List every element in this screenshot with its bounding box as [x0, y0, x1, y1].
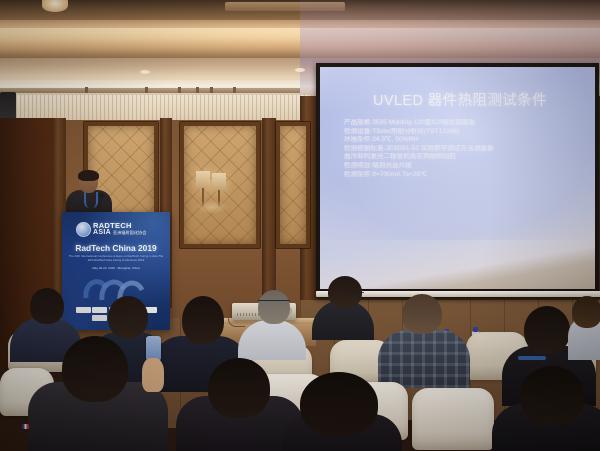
- logo-brand-asia: ASIA: [93, 229, 111, 236]
- sunglasses-icon: [258, 300, 290, 305]
- sponsor-logo: [92, 315, 107, 321]
- lighting-track: [0, 88, 300, 93]
- chair: [412, 388, 494, 450]
- slide-title: UVLED 器件热阻测试条件: [340, 89, 580, 110]
- sconce-shade-left-icon: [196, 171, 210, 189]
- track-fixture-icon: [196, 87, 199, 93]
- slide-line: 产品规格:3535 Molding 120度ICP氮化铝基板: [344, 119, 574, 128]
- track-fixture-icon: [233, 87, 236, 93]
- logo-brand-line2: ASIA 亚洲辐射固化协会: [93, 229, 146, 236]
- audience-head: [182, 296, 224, 344]
- slide-line: 检测条件:If=700mA Ta=25℃: [344, 171, 574, 180]
- wall-panel-frame: [276, 122, 310, 248]
- wood-column: [262, 118, 276, 308]
- track-fixture-icon: [145, 87, 148, 93]
- sconce-shade-right-icon: [212, 173, 226, 191]
- speaker-lanyard: [84, 192, 98, 208]
- ceiling-downlight-icon: [42, 0, 68, 12]
- audience-head-front: [62, 336, 128, 402]
- audience-head: [258, 290, 290, 324]
- sconce-base: [196, 200, 228, 214]
- audience-head: [30, 288, 64, 324]
- track-fixture-icon: [85, 87, 88, 93]
- slide-line: 环境条件:24.3℃, 50%RH: [344, 136, 574, 145]
- projection-screen: UVLED 器件热阻测试条件 产品规格:3535 Molding 120度ICP…: [320, 67, 595, 289]
- slide-line: 检测项目:结到壳直片阻: [344, 162, 574, 171]
- audience-head-front: [300, 372, 378, 436]
- speaker-hair: [78, 170, 99, 181]
- audience-head-front: [520, 366, 584, 424]
- glasses-icon: [348, 292, 364, 297]
- lanyard: [518, 356, 546, 360]
- audience-torso-plaid: [378, 330, 470, 388]
- event-date: May 20-22, 2019 · Shanghai, China: [68, 266, 164, 270]
- hand: [142, 358, 164, 392]
- audience-head: [524, 306, 570, 354]
- conference-room-photo: UVLED 器件热阻测试条件 产品规格:3535 Molding 120度ICP…: [0, 0, 600, 451]
- slide-line: 检测依据标准:JESD51-51 实验数学测试方法测量墓: [344, 145, 574, 154]
- sponsor-logo: [76, 307, 91, 313]
- track-fixture-icon: [178, 87, 181, 93]
- audience-head-front: [208, 358, 270, 418]
- sponsor-logo: [92, 307, 107, 313]
- wall-panel-diamond: [280, 126, 306, 244]
- event-title: RadTech China 2019: [62, 243, 170, 253]
- soffit-spotlight-icon: [140, 70, 150, 74]
- audience-head: [402, 294, 442, 334]
- slide-line: 检测设备:T3ster热阻分析仪(TST12266): [344, 128, 574, 137]
- audience-head: [108, 296, 148, 338]
- flag-pin-icon: [22, 424, 29, 429]
- radtech-logo: RADTECH ASIA 亚洲辐射固化协会: [76, 221, 156, 237]
- slide-body: 产品规格:3535 Molding 120度ICP氮化铝基板 检测设备:T3st…: [344, 119, 574, 179]
- logo-brand-chinese: 亚洲辐射固化协会: [113, 230, 147, 235]
- event-subtitle: The 20th International Conference & Expo…: [68, 254, 164, 262]
- soffit-spotlight-icon: [295, 68, 305, 72]
- ceiling-projector-spill: [300, 0, 600, 62]
- track-fixture-icon: [210, 87, 213, 93]
- slide-line: 面冷却的发光二极管的真实热阻和阻抗: [344, 153, 574, 162]
- audience-head: [572, 296, 600, 328]
- projector-cable: [228, 316, 245, 327]
- globe-icon: [76, 222, 91, 237]
